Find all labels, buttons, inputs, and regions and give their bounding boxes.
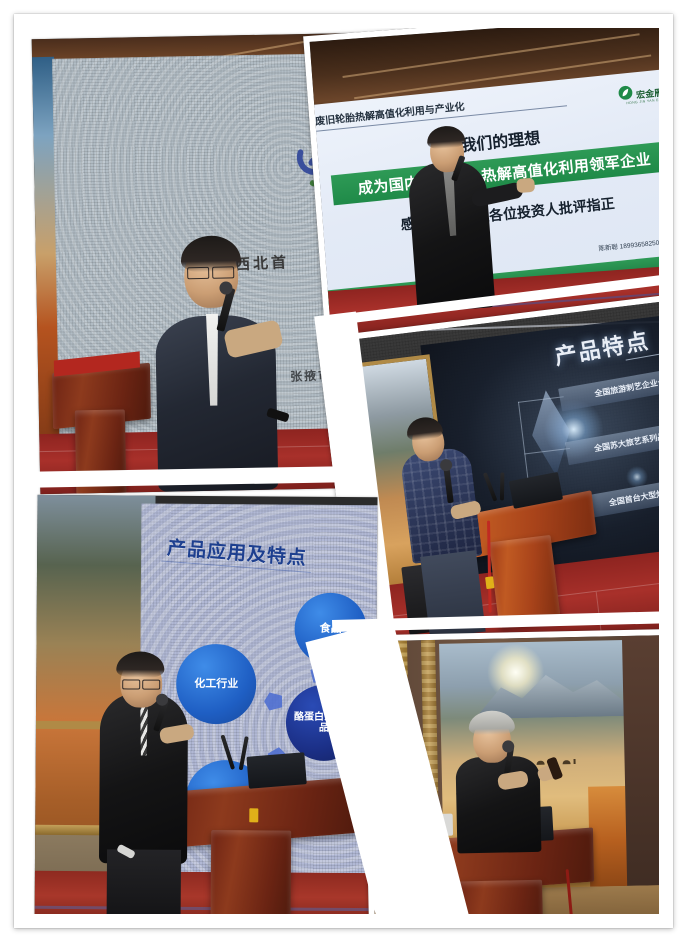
presenter-body <box>455 756 541 854</box>
presenter-glasses-left <box>187 267 209 279</box>
collage-stage: 打造西北首 张掖市 <box>14 14 673 928</box>
contact-name: 陈新聪 <box>598 243 618 253</box>
photo-collage: 打造西北首 张掖市 <box>0 0 687 942</box>
cable-clip <box>485 576 494 589</box>
podium-base <box>489 535 561 628</box>
cable-clip <box>249 808 258 822</box>
laptop <box>246 752 306 789</box>
qr-code <box>666 230 673 254</box>
podium-base <box>211 830 292 927</box>
photo-top-right[interactable]: 废旧轮胎热解高值化利用与产业化 宏金雁能 <box>303 14 673 345</box>
rail-left <box>14 14 28 928</box>
presenter-glasses-left <box>122 679 140 689</box>
podium-base <box>75 409 127 494</box>
scene-top-right: 废旧轮胎热解高值化利用与产业化 宏金雁能 <box>310 15 673 339</box>
podium-mic <box>500 472 504 500</box>
presenter-trousers <box>107 849 182 928</box>
presenter-glasses-right <box>142 680 160 690</box>
contact-phone: 18993658250 <box>619 240 659 251</box>
stage-floor <box>34 871 374 928</box>
presenter-trousers <box>420 550 486 638</box>
presenter-glasses-right <box>212 266 234 278</box>
collage-card-frame: 打造西北首 张掖市 <box>14 14 673 928</box>
slide-contact: 陈新聪 18993658250 <box>598 237 660 253</box>
side-wall <box>622 635 673 926</box>
node-chemical: 化工行业 <box>176 644 257 725</box>
presenter-hand <box>516 178 535 193</box>
microphone-head <box>156 694 168 706</box>
